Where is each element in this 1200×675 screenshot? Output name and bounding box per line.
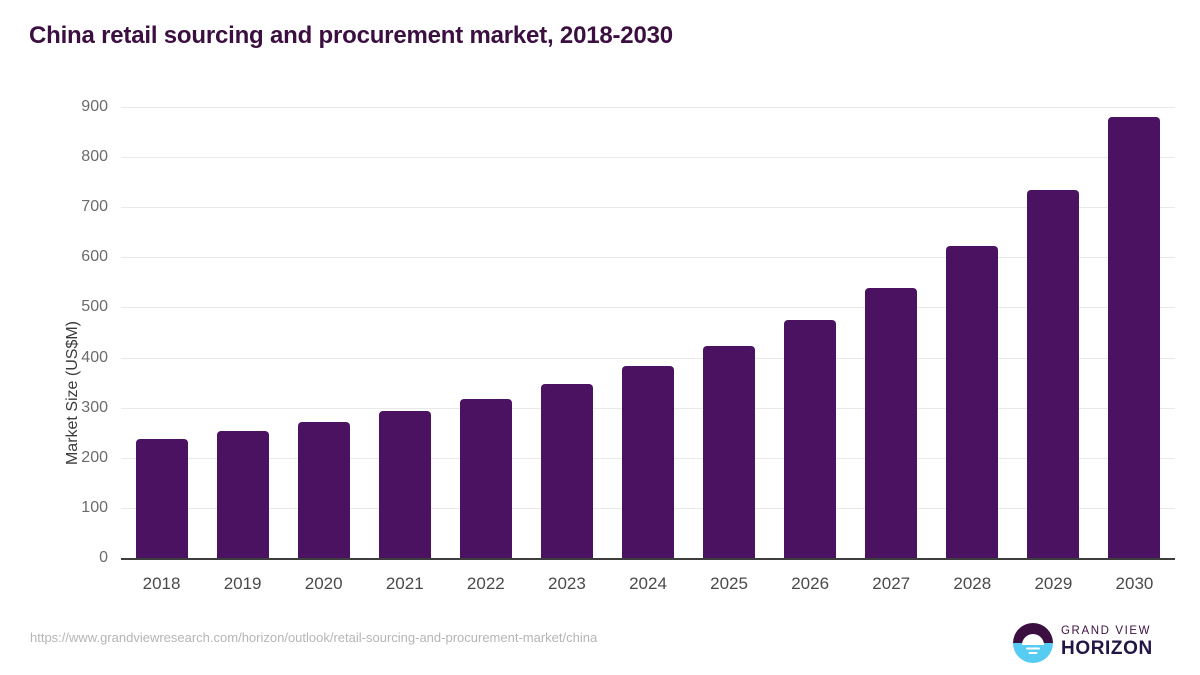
x-axis-tick-label: 2030 <box>1074 574 1194 594</box>
y-axis-title: Market Size (US$M) <box>64 253 82 533</box>
source-url[interactable]: https://www.grandviewresearch.com/horizo… <box>30 630 597 645</box>
bar-2021[interactable] <box>379 411 431 558</box>
y-axis-tick-label: 600 <box>48 248 108 266</box>
bar-2026[interactable] <box>784 320 836 558</box>
y-axis-tick-label: 700 <box>48 198 108 216</box>
x-axis-line <box>121 558 1175 560</box>
bar-2027[interactable] <box>865 288 917 558</box>
y-axis-ticks: Market Size (US$M) 010020030040050060070… <box>40 107 108 558</box>
bar-2024[interactable] <box>622 366 674 558</box>
bar-2029[interactable] <box>1027 190 1079 558</box>
bar-slot <box>607 107 688 558</box>
y-axis-tick-label: 0 <box>48 549 108 567</box>
bar-slot <box>526 107 607 558</box>
bar-slot <box>1094 107 1175 558</box>
bar-slot <box>932 107 1013 558</box>
bar-2020[interactable] <box>298 422 350 558</box>
y-axis-tick-label: 400 <box>48 349 108 367</box>
logo-line-grand-view: GRAND VIEW <box>1061 624 1153 638</box>
bar-2018[interactable] <box>136 439 188 558</box>
bar-slot <box>202 107 283 558</box>
bar-slot <box>364 107 445 558</box>
bar-slot <box>445 107 526 558</box>
brand-logo[interactable]: GRAND VIEW HORIZON <box>1013 620 1163 664</box>
y-axis-tick-label: 900 <box>48 98 108 116</box>
y-axis-tick-label: 300 <box>48 399 108 417</box>
y-axis-tick-label: 800 <box>48 148 108 166</box>
bar-slot <box>689 107 770 558</box>
page-title: China retail sourcing and procurement ma… <box>29 22 673 50</box>
bar-slot <box>851 107 932 558</box>
bar-slot <box>121 107 202 558</box>
chart-page: China retail sourcing and procurement ma… <box>0 0 1200 675</box>
logo-line-horizon: HORIZON <box>1061 638 1153 659</box>
y-axis-tick-label: 100 <box>48 499 108 517</box>
plot-area <box>121 107 1175 558</box>
logo-wordmark: GRAND VIEW HORIZON <box>1061 624 1153 659</box>
bar-slot <box>770 107 851 558</box>
bar-slot <box>1013 107 1094 558</box>
bar-2030[interactable] <box>1108 117 1160 558</box>
bar-2028[interactable] <box>946 246 998 558</box>
bar-slot <box>283 107 364 558</box>
bar-2022[interactable] <box>460 399 512 558</box>
y-axis-tick-label: 500 <box>48 298 108 316</box>
bar-2023[interactable] <box>541 384 593 558</box>
bar-2025[interactable] <box>703 346 755 558</box>
bar-2019[interactable] <box>217 431 269 558</box>
y-axis-tick-label: 200 <box>48 449 108 467</box>
horizon-circle-icon <box>1013 623 1053 663</box>
